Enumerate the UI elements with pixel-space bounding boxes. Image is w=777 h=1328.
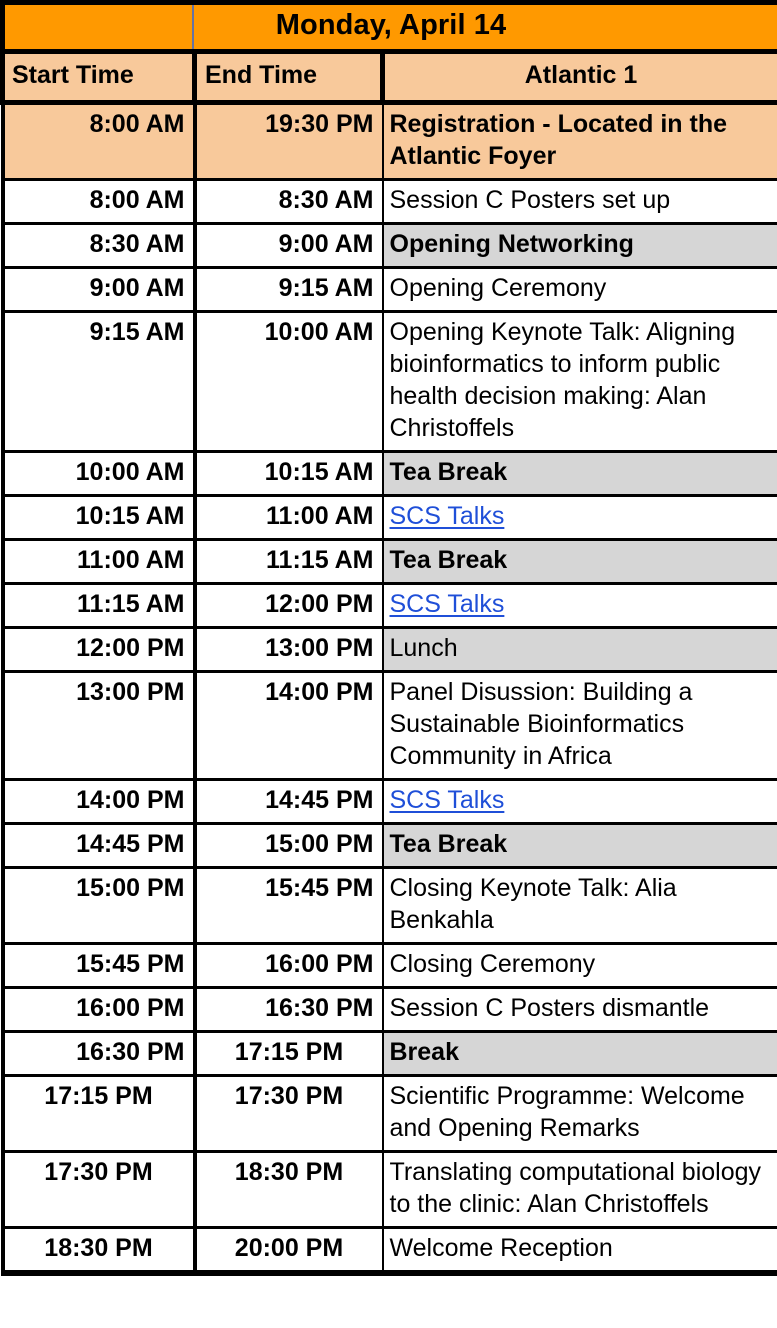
schedule-row: 13:00 PM14:00 PMPanel Disussion: Buildin… xyxy=(3,672,777,780)
cell-end-time: 10:00 AM xyxy=(195,312,383,452)
cell-end-time: 11:15 AM xyxy=(195,540,383,584)
schedule-row: 15:00 PM15:45 PMClosing Keynote Talk: Al… xyxy=(3,868,777,944)
schedule-row: 12:00 PM13:00 PMLunch xyxy=(3,628,777,672)
cell-start-time: 9:15 AM xyxy=(3,312,195,452)
cell-end-time: 11:00 AM xyxy=(195,496,383,540)
schedule-row: 17:15 PM17:30 PMScientific Programme: We… xyxy=(3,1076,777,1152)
schedule-row: 17:30 PM18:30 PMTranslating computationa… xyxy=(3,1152,777,1228)
cell-start-time: 14:45 PM xyxy=(3,824,195,868)
schedule-row: 14:00 PM14:45 PMSCS Talks xyxy=(3,780,777,824)
day-title-text: Monday, April 14 xyxy=(276,9,506,41)
cell-event: Session C Posters dismantle xyxy=(383,988,777,1032)
cell-start-time: 16:00 PM xyxy=(3,988,195,1032)
schedule-table: Monday, April 14 Start Time End Time Atl… xyxy=(0,0,777,1276)
cell-start-time: 8:00 AM xyxy=(3,180,195,224)
cell-event[interactable]: SCS Talks xyxy=(383,584,777,628)
cell-end-time: 17:30 PM xyxy=(195,1076,383,1152)
schedule-row: 10:15 AM11:00 AMSCS Talks xyxy=(3,496,777,540)
cell-event: Opening Ceremony xyxy=(383,268,777,312)
cell-end-time: 16:00 PM xyxy=(195,944,383,988)
cell-event: Tea Break xyxy=(383,540,777,584)
cell-event: Panel Disussion: Building a Sustainable … xyxy=(383,672,777,780)
cell-start-time: 13:00 PM xyxy=(3,672,195,780)
cell-start-time: 10:15 AM xyxy=(3,496,195,540)
column-header-row: Start Time End Time Atlantic 1 xyxy=(3,52,777,103)
schedule-row: 11:15 AM12:00 PMSCS Talks xyxy=(3,584,777,628)
cell-end-time: 16:30 PM xyxy=(195,988,383,1032)
day-title: Monday, April 14 xyxy=(3,3,777,52)
cell-event: Opening Keynote Talk: Aligning bioinform… xyxy=(383,312,777,452)
cell-event: Closing Ceremony xyxy=(383,944,777,988)
cell-event: Welcome Reception xyxy=(383,1228,777,1274)
cell-start-time: 8:30 AM xyxy=(3,224,195,268)
title-cell-divider xyxy=(192,5,194,49)
cell-start-time: 14:00 PM xyxy=(3,780,195,824)
cell-end-time: 19:30 PM xyxy=(195,103,383,180)
cell-end-time: 14:00 PM xyxy=(195,672,383,780)
cell-event: Closing Keynote Talk: Alia Benkahla xyxy=(383,868,777,944)
schedule-row: 11:00 AM11:15 AMTea Break xyxy=(3,540,777,584)
cell-start-time: 15:00 PM xyxy=(3,868,195,944)
schedule-row: 8:00 AM8:30 AMSession C Posters set up xyxy=(3,180,777,224)
cell-start-time: 10:00 AM xyxy=(3,452,195,496)
cell-start-time: 15:45 PM xyxy=(3,944,195,988)
schedule-body: Monday, April 14 Start Time End Time Atl… xyxy=(3,3,777,1274)
schedule-row: 18:30 PM20:00 PMWelcome Reception xyxy=(3,1228,777,1274)
cell-start-time: 8:00 AM xyxy=(3,103,195,180)
cell-start-time: 12:00 PM xyxy=(3,628,195,672)
day-title-row: Monday, April 14 xyxy=(3,3,777,52)
cell-end-time: 10:15 AM xyxy=(195,452,383,496)
schedule-row: 16:30 PM17:15 PMBreak xyxy=(3,1032,777,1076)
session-link[interactable]: SCS Talks xyxy=(390,502,505,530)
schedule-row: 14:45 PM15:00 PMTea Break xyxy=(3,824,777,868)
cell-event: Registration - Located in the Atlantic F… xyxy=(383,103,777,180)
cell-event[interactable]: SCS Talks xyxy=(383,780,777,824)
cell-start-time: 11:00 AM xyxy=(3,540,195,584)
cell-end-time: 18:30 PM xyxy=(195,1152,383,1228)
cell-end-time: 15:00 PM xyxy=(195,824,383,868)
cell-end-time: 14:45 PM xyxy=(195,780,383,824)
column-header-room: Atlantic 1 xyxy=(383,52,777,103)
schedule-container: Monday, April 14 Start Time End Time Atl… xyxy=(0,0,777,1276)
column-header-end-time: End Time xyxy=(195,52,383,103)
session-link[interactable]: SCS Talks xyxy=(390,786,505,814)
cell-end-time: 20:00 PM xyxy=(195,1228,383,1274)
cell-start-time: 18:30 PM xyxy=(3,1228,195,1274)
cell-event: Scientific Programme: Welcome and Openin… xyxy=(383,1076,777,1152)
session-link[interactable]: SCS Talks xyxy=(390,590,505,618)
cell-event: Opening Networking xyxy=(383,224,777,268)
schedule-row: 16:00 PM16:30 PMSession C Posters disman… xyxy=(3,988,777,1032)
cell-start-time: 16:30 PM xyxy=(3,1032,195,1076)
cell-start-time: 11:15 AM xyxy=(3,584,195,628)
schedule-row: 15:45 PM16:00 PMClosing Ceremony xyxy=(3,944,777,988)
cell-start-time: 17:30 PM xyxy=(3,1152,195,1228)
cell-event: Tea Break xyxy=(383,824,777,868)
schedule-row: 10:00 AM10:15 AMTea Break xyxy=(3,452,777,496)
cell-event: Translating computational biology to the… xyxy=(383,1152,777,1228)
cell-end-time: 13:00 PM xyxy=(195,628,383,672)
schedule-row: 9:00 AM9:15 AMOpening Ceremony xyxy=(3,268,777,312)
schedule-row: 8:00 AM19:30 PMRegistration - Located in… xyxy=(3,103,777,180)
cell-event: Tea Break xyxy=(383,452,777,496)
cell-end-time: 9:00 AM xyxy=(195,224,383,268)
schedule-row: 9:15 AM10:00 AMOpening Keynote Talk: Ali… xyxy=(3,312,777,452)
cell-start-time: 9:00 AM xyxy=(3,268,195,312)
cell-end-time: 12:00 PM xyxy=(195,584,383,628)
cell-event: Break xyxy=(383,1032,777,1076)
column-header-start-time: Start Time xyxy=(3,52,195,103)
cell-end-time: 8:30 AM xyxy=(195,180,383,224)
schedule-row: 8:30 AM9:00 AMOpening Networking xyxy=(3,224,777,268)
cell-event: Lunch xyxy=(383,628,777,672)
cell-end-time: 9:15 AM xyxy=(195,268,383,312)
cell-event: Session C Posters set up xyxy=(383,180,777,224)
cell-end-time: 17:15 PM xyxy=(195,1032,383,1076)
cell-start-time: 17:15 PM xyxy=(3,1076,195,1152)
cell-event[interactable]: SCS Talks xyxy=(383,496,777,540)
cell-end-time: 15:45 PM xyxy=(195,868,383,944)
